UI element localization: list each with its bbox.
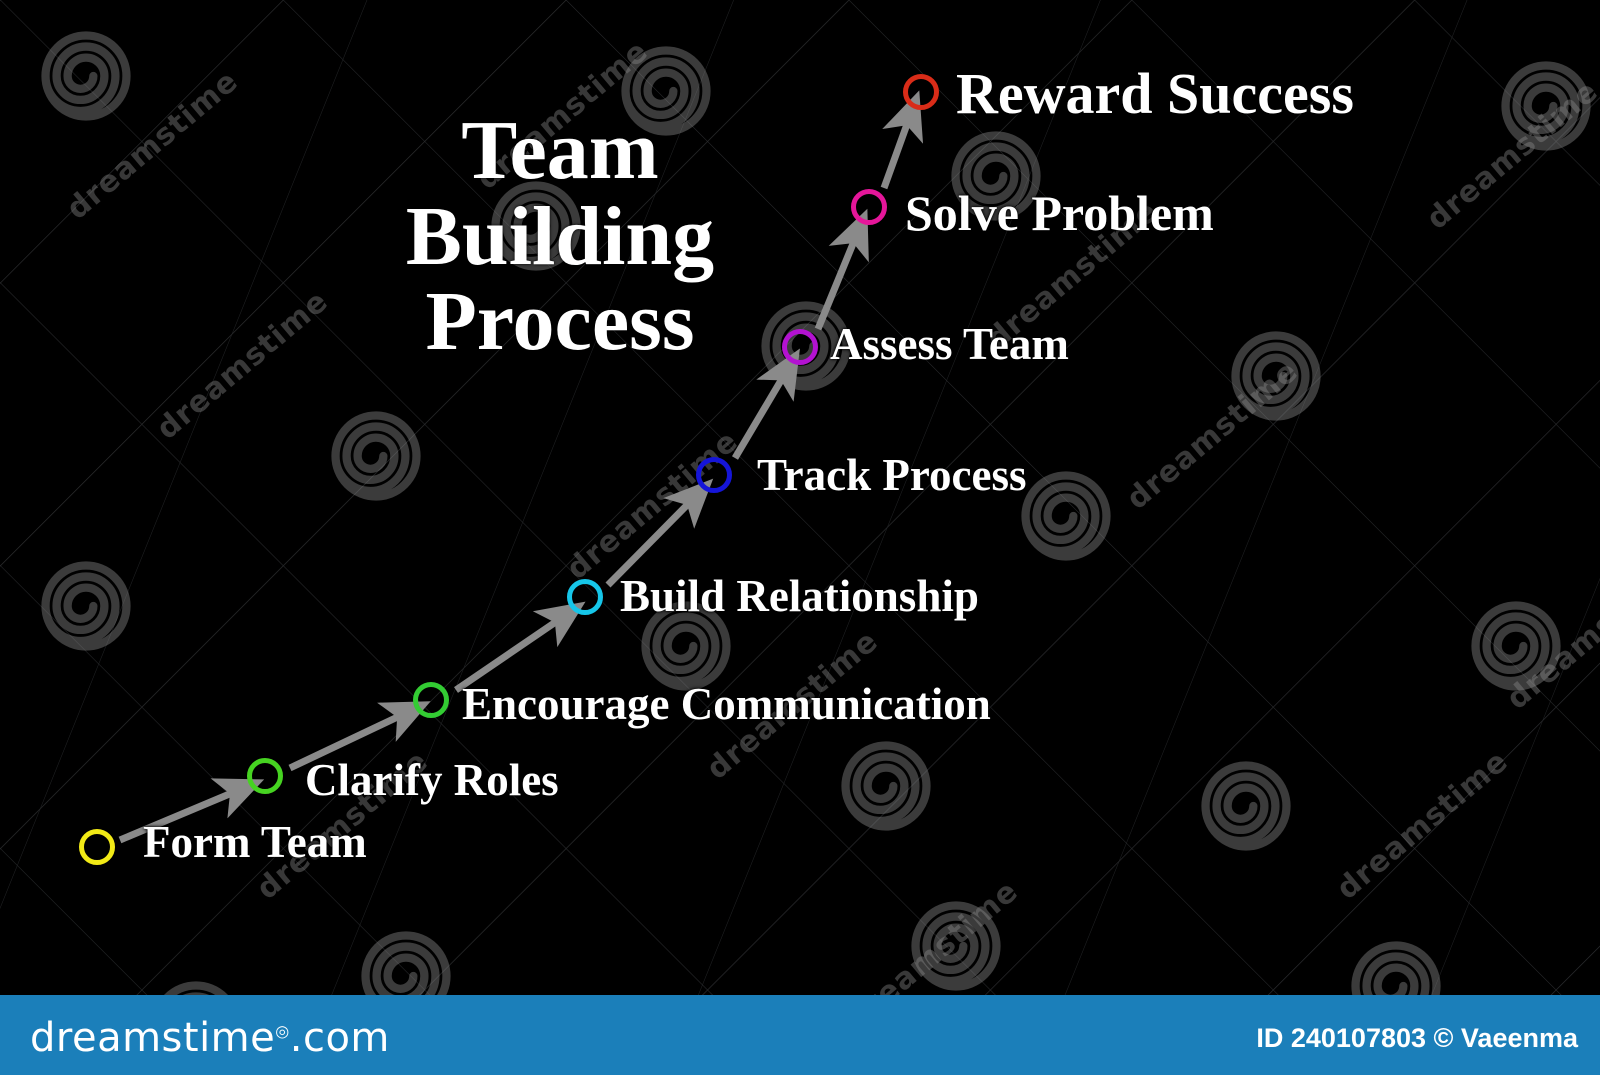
title-line-3: Process [300,279,820,365]
dreamstime-logo-text: dreamstime [30,1015,275,1061]
step-label: Reward Success [956,60,1354,127]
footer-bar: dreamstime◎.com ID 240107803 © Vaeenma [0,995,1600,1075]
step-label: Track Process [757,449,1027,501]
step-marker-circle-icon [567,579,603,615]
step-label: Solve Problem [905,184,1214,242]
image-id-credit: ID 240107803 © Vaeenma [1256,1023,1578,1054]
step-label: Form Team [143,816,367,868]
title-line-2: Building [300,194,820,280]
title-line-1: Team [300,108,820,194]
step-marker-circle-icon [903,74,939,110]
step-label: Encourage Communication [462,678,991,730]
step-label: Assess Team [830,318,1069,370]
step-label: Build Relationship [620,570,979,622]
dreamstime-logo-suffix: .com [290,1015,390,1061]
dreamstime-logo[interactable]: dreamstime◎.com [30,1015,390,1061]
image-canvas: dreamstimedreamstimedreamstimedreamstime… [0,0,1600,1075]
step-marker-circle-icon [413,682,449,718]
page-title: Team Building Process [300,108,820,365]
registered-icon: ◎ [275,1022,289,1041]
step-marker-circle-icon [79,829,115,865]
step-marker-circle-icon [696,457,732,493]
step-marker-circle-icon [247,758,283,794]
step-label: Clarify Roles [305,754,559,806]
step-marker-circle-icon [851,189,887,225]
